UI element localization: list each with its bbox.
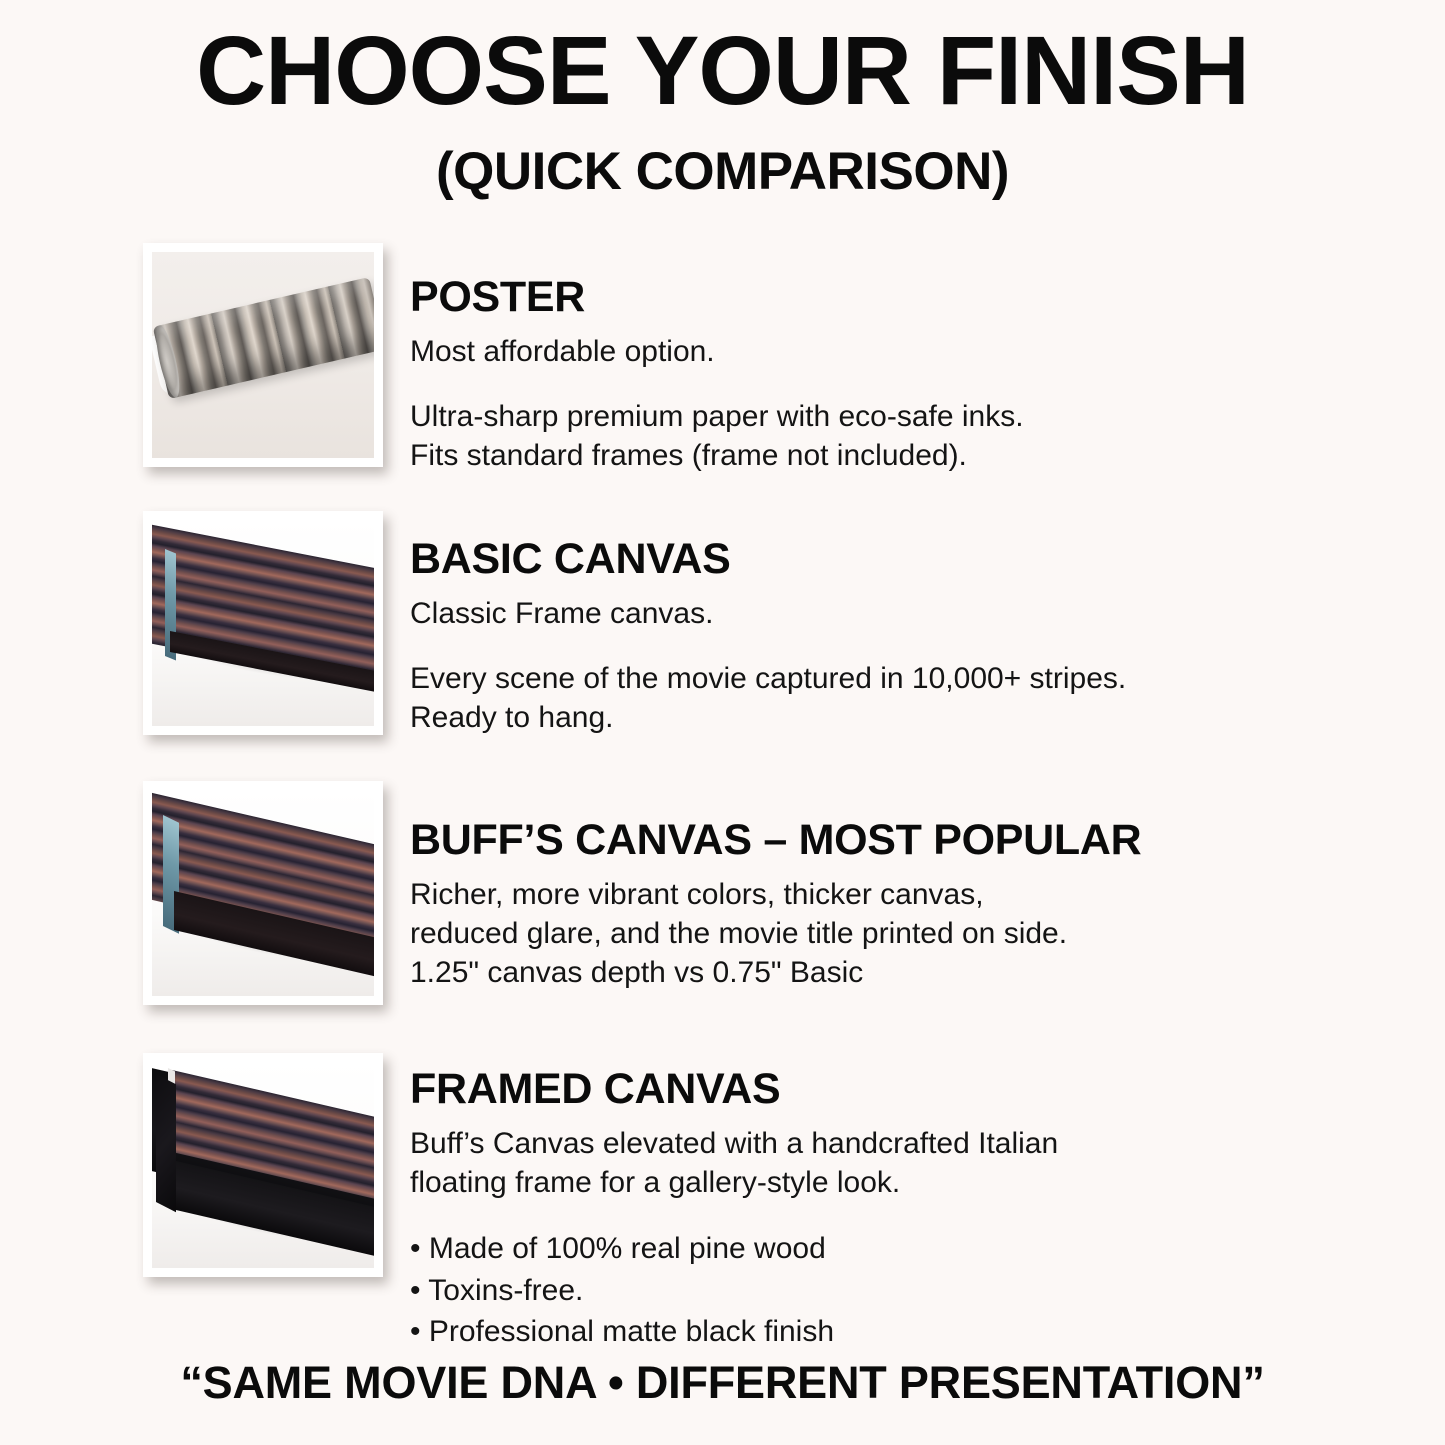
spacer — [410, 582, 1385, 594]
framed-canvas-thumbnail-card — [143, 1053, 383, 1277]
framed-canvas-line-2: floating frame for a gallery-style look. — [410, 1163, 1385, 1202]
section-title-poster: POSTER — [410, 275, 1385, 320]
poster-line-3: Fits standard frames (frame not included… — [410, 436, 1385, 475]
comparison-row-buffs-canvas: BUFF’S CANVAS – MOST POPULAR Richer, mor… — [0, 781, 1445, 1053]
comparison-row-poster: POSTER Most affordable option. Ultra-sha… — [0, 243, 1445, 511]
buffs-canvas-line-2: reduced glare, and the movie title print… — [410, 914, 1385, 953]
buffs-canvas-image — [152, 790, 374, 996]
poster-line-2: Ultra-sharp premium paper with eco-safe … — [410, 397, 1385, 436]
text-cell-buffs-canvas: BUFF’S CANVAS – MOST POPULAR Richer, mor… — [410, 781, 1445, 992]
list-item: • Toxins-free. — [410, 1270, 1385, 1311]
section-title-buffs-canvas: BUFF’S CANVAS – MOST POPULAR — [410, 818, 1385, 863]
thumbnail-cell-poster — [0, 243, 410, 467]
comparison-row-framed-canvas: FRAMED CANVAS Buff’s Canvas elevated wit… — [0, 1053, 1445, 1315]
spacer — [410, 1202, 1385, 1228]
poster-line-1: Most affordable option. — [410, 332, 1385, 371]
basic-canvas-line-1: Classic Frame canvas. — [410, 594, 1385, 633]
spacer — [410, 1112, 1385, 1124]
list-item: • Made of 100% real pine wood — [410, 1228, 1385, 1269]
frame-left-rail — [156, 1074, 176, 1212]
thumbnail-cell-buffs-canvas — [0, 781, 410, 1005]
infographic-page: CHOOSE YOUR FINISH (QUICK COMPARISON) PO… — [0, 0, 1445, 1445]
comparison-row-basic-canvas: BASIC CANVAS Classic Frame canvas. Every… — [0, 511, 1445, 781]
spacer — [410, 863, 1385, 875]
page-subtitle: (QUICK COMPARISON) — [0, 145, 1445, 198]
section-title-basic-canvas: BASIC CANVAS — [410, 537, 1385, 582]
thumbnail-cell-basic-canvas — [0, 511, 410, 735]
text-cell-poster: POSTER Most affordable option. Ultra-sha… — [410, 243, 1445, 475]
thumbnail-cell-framed-canvas — [0, 1053, 410, 1277]
buffs-canvas-thumbnail-card — [143, 781, 383, 1005]
poster-thumbnail-card — [143, 243, 383, 467]
section-title-framed-canvas: FRAMED CANVAS — [410, 1067, 1385, 1112]
basic-canvas-image — [152, 520, 374, 726]
footer-tagline: “SAME MOVIE DNA • DIFFERENT PRESENTATION… — [0, 1357, 1445, 1409]
basic-canvas-thumbnail-card — [143, 511, 383, 735]
footer: “SAME MOVIE DNA • DIFFERENT PRESENTATION… — [0, 1357, 1445, 1409]
comparison-list: POSTER Most affordable option. Ultra-sha… — [0, 243, 1445, 1315]
text-cell-framed-canvas: FRAMED CANVAS Buff’s Canvas elevated wit… — [410, 1053, 1445, 1352]
buffs-canvas-line-1: Richer, more vibrant colors, thicker can… — [410, 875, 1385, 914]
basic-canvas-line-2: Every scene of the movie captured in 10,… — [410, 659, 1385, 698]
header: CHOOSE YOUR FINISH (QUICK COMPARISON) — [0, 0, 1445, 198]
basic-canvas-line-3: Ready to hang. — [410, 698, 1385, 737]
spacer — [410, 371, 1385, 397]
page-title: CHOOSE YOUR FINISH — [0, 22, 1445, 119]
framed-canvas-bullet-list: • Made of 100% real pine wood • Toxins-f… — [410, 1228, 1385, 1352]
framed-canvas-line-1: Buff’s Canvas elevated with a handcrafte… — [410, 1124, 1385, 1163]
poster-roll-image — [152, 252, 374, 458]
buffs-canvas-line-3: 1.25" canvas depth vs 0.75" Basic — [410, 953, 1385, 992]
text-cell-basic-canvas: BASIC CANVAS Classic Frame canvas. Every… — [410, 511, 1445, 737]
framed-canvas-image — [152, 1062, 374, 1268]
spacer — [410, 320, 1385, 332]
list-item: • Professional matte black finish — [410, 1311, 1385, 1352]
spacer — [410, 633, 1385, 659]
